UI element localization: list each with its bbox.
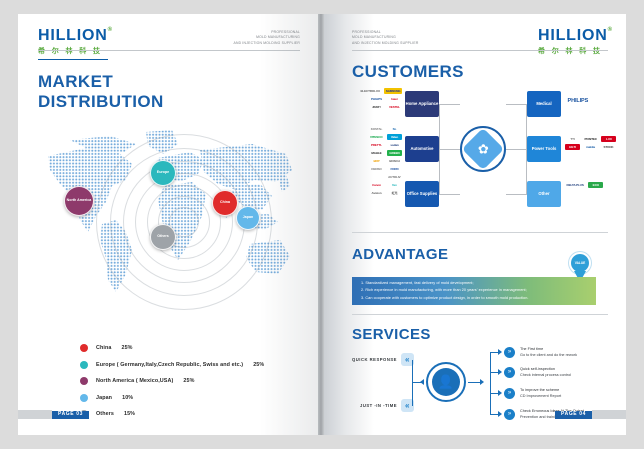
arrow-right-icon (498, 411, 502, 417)
client-logo: POSITEC (583, 136, 598, 142)
logo-wordmark: HILLION® (38, 28, 108, 44)
category-power-tools[interactable]: Power Tools (527, 136, 561, 162)
logo-left: HILLION® 希 尔 林 科 技 (38, 28, 108, 60)
chevron-right-double-icon: » (504, 367, 515, 378)
map-pin-others[interactable]: Others (150, 224, 176, 250)
header-divider-right (352, 50, 608, 51)
title-line-1: MARKET (38, 72, 164, 92)
category-label: Automotive (410, 146, 433, 151)
map-pin-china[interactable]: China (212, 190, 238, 216)
map-pin-label: China (220, 201, 230, 205)
client-logo: Valeo (387, 134, 402, 140)
connector-line (506, 149, 527, 150)
tagline-line-3: AND INJECTION MOLDING SUPPLIER (352, 41, 418, 46)
client-logo: HILTI (565, 144, 580, 150)
map-pin-label: Japan (243, 216, 253, 220)
client-logo: haier (387, 96, 402, 102)
side-label: QUICK RESPONSE (352, 357, 397, 362)
connector-line (439, 104, 440, 149)
category-other[interactable]: Other (527, 181, 561, 207)
advantage-point: 2. Rich experience in mold manufacturing… (361, 287, 587, 294)
logo-cluster-medical: PHILIPS (566, 98, 614, 104)
client-logo: PHILIPS (369, 96, 384, 102)
legend-color-swatch (80, 394, 88, 402)
arrow-right-icon (498, 349, 502, 355)
connector-line (490, 352, 491, 414)
service-line-2: CD Improvement Report (520, 393, 561, 399)
page-title-market-distribution: MARKET DISTRIBUTION (38, 72, 164, 112)
chevron-right-double-icon: » (504, 347, 515, 358)
customers-hub: ✿ (460, 126, 506, 172)
page-right: PROFESSIONAL MOLD MANUFACTURING AND INJE… (322, 14, 626, 435)
category-label: Other (538, 191, 549, 196)
service-line-2: Check internal process control (520, 372, 571, 378)
marker-text: VALUE (575, 261, 586, 265)
page-number-label: PAGE 03 (52, 411, 89, 419)
map-pin-north-america[interactable]: North America (64, 186, 94, 216)
legend-color-swatch (80, 377, 88, 385)
legend-item-north-america: North America ( Mexico,USA) 25% (80, 377, 264, 385)
category-label: Home Appliance (406, 101, 439, 106)
logo-cluster-automotive: KOSTAL SL VITESCO Valeo PRETTL sodan MAH… (352, 126, 402, 180)
service-line-2: Go to the client and do the rework (520, 352, 577, 358)
section-divider-services (352, 314, 608, 315)
client-logo: KOSTAL (369, 126, 384, 132)
legend-label: China (96, 345, 111, 351)
customer-service-agent-icon: 👤 (438, 374, 454, 390)
legend-item-china: China 25% (80, 344, 264, 352)
logo-right: HILLION® 希 尔 林 科 技 (538, 28, 608, 56)
logo-text: HILLION (38, 27, 108, 44)
legend-percent: 25% (121, 345, 132, 351)
connector-line (439, 149, 460, 150)
category-label: Office Supplies (407, 191, 437, 196)
connector-line (506, 194, 527, 195)
client-logo: BOSCH (387, 158, 402, 164)
logo-cluster-other: DELTA PLUS ECO (565, 182, 615, 188)
page-number-right: PAGE 04 (555, 410, 626, 419)
client-logo: BRP (369, 158, 384, 164)
client-logo: TTI (565, 136, 580, 142)
logo-cluster-office-supplies: Canon flex Avision 虹光 (360, 182, 402, 196)
section-title-services: SERVICES (352, 326, 431, 344)
legend-label: North America ( Mexico,USA) (96, 378, 173, 384)
arrow-left-icon (420, 379, 424, 385)
market-legend: China 25% Europe ( Germany,Italy,Czech R… (80, 344, 264, 427)
side-label: JUST -IN -TIME (360, 403, 397, 408)
connector-line (439, 104, 460, 105)
client-logo: VITESCO (369, 134, 384, 140)
customers-diagram: ✿ Home Appliance Automotive Office Suppl… (352, 82, 617, 214)
header-tagline-right: PROFESSIONAL MOLD MANUFACTURING AND INJE… (352, 30, 418, 46)
client-logo: flex (387, 182, 402, 188)
category-home-appliance[interactable]: Home Appliance (405, 91, 439, 117)
service-item-3: » To improve the scheme CD Improvement R… (504, 387, 561, 400)
lotus-emblem-icon: ✿ (478, 141, 489, 157)
logo-underline (38, 59, 108, 60)
connector-line (439, 149, 440, 194)
advantage-point: 1. Standardized management, fast deliver… (361, 280, 587, 287)
page-number-left: PAGE 03 (18, 410, 89, 419)
arrow-right-icon (498, 369, 502, 375)
client-logo: SL (387, 126, 402, 132)
service-side-quick-response: QUICK RESPONSE « (352, 353, 414, 366)
logo-cluster-power-tools: TTI POSITEC LUX HILTI makita STOCK (565, 136, 617, 150)
client-logo: DENSO (369, 166, 384, 172)
legend-percent: 25% (253, 362, 264, 368)
client-logo: GREEN (387, 150, 402, 156)
client-logo: sodan (387, 142, 402, 148)
logo-cluster-home-appliance: ELECTROLUX SAMSUNG PHILIPS haier JIMMY V… (354, 88, 402, 110)
logo-wordmark: HILLION® (538, 28, 608, 44)
map-pin-label: Europe (157, 171, 169, 175)
client-logo: ELECTROLUX (359, 88, 381, 94)
arrow-right-icon (498, 390, 502, 396)
category-automotive[interactable]: Automotive (405, 136, 439, 162)
client-logo: 虹光 (387, 190, 402, 196)
legend-item-others: Others 15% (80, 410, 264, 418)
client-logo: SAMSUNG (384, 88, 402, 94)
registered-mark-icon: ® (608, 27, 613, 33)
map-pin-label: North America (67, 199, 92, 203)
client-logo: PRETTL (369, 142, 384, 148)
client-logo: LUX (601, 136, 616, 142)
legend-percent: 10% (122, 395, 133, 401)
advantage-point: 3. Can cooperate with customers to optim… (361, 295, 587, 302)
legend-label: Japan (96, 395, 112, 401)
service-item-text: To improve the scheme CD Improvement Rep… (520, 387, 561, 400)
legend-percent: 25% (183, 378, 194, 384)
category-label: Medical (536, 101, 551, 106)
hub-circle: 👤 (432, 368, 460, 396)
service-item-text: The First time Go to the client and do t… (520, 346, 577, 359)
service-item-2: » Quick self-inspection Check internal p… (504, 366, 571, 379)
page-tag-bar (592, 410, 626, 419)
page-left: HILLION® 希 尔 林 科 技 PROFESSIONAL MOLD MAN… (18, 14, 318, 435)
section-title-advantage: ADVANTAGE (352, 246, 448, 264)
world-map: North America Europe China Japan Others (40, 124, 298, 324)
title-line-2: DISTRIBUTION (38, 92, 164, 112)
client-logo: FORD (387, 166, 402, 172)
chevron-right-double-icon: » (504, 409, 515, 420)
legend-item-japan: Japan 10% (80, 394, 264, 402)
legend-color-swatch (80, 361, 88, 369)
advantage-points-band: 1. Standardized management, fast deliver… (352, 277, 596, 305)
logo-chinese: 希 尔 林 科 技 (538, 46, 608, 56)
client-logo: MAHLE (369, 150, 384, 156)
client-logo: makita (583, 144, 598, 150)
legend-item-europe: Europe ( Germany,Italy,Czech Republic, S… (80, 361, 264, 369)
client-logo: DELTA PLUS (565, 182, 585, 188)
client-logo: Avision (369, 190, 384, 196)
map-pin-label: Others (157, 235, 169, 239)
client-logo: Canon (369, 182, 384, 188)
client-logo: ECO (588, 182, 603, 188)
brochure-spread: HILLION® 希 尔 林 科 技 PROFESSIONAL MOLD MAN… (0, 0, 644, 449)
client-logo: PHILIPS (566, 98, 590, 104)
service-side-just-in-time: JUST -IN -TIME « (360, 399, 414, 412)
hub-diamond: ✿ (462, 128, 504, 170)
book-spine (318, 14, 324, 435)
client-logo: STOCK (601, 144, 616, 150)
section-divider-advantage (352, 232, 608, 233)
header-tagline-left: PROFESSIONAL MOLD MANUFACTURING AND INJE… (234, 30, 300, 46)
category-medical[interactable]: Medical (527, 91, 561, 117)
service-item-1: » The First time Go to the client and do… (504, 346, 577, 359)
section-title-customers: CUSTOMERS (352, 62, 464, 82)
client-logo: JIMMY (369, 104, 384, 110)
legend-label: Others (96, 411, 114, 417)
tagline-line-3: AND INJECTION MOLDING SUPPLIER (234, 41, 300, 46)
client-logo: VESTEL (387, 104, 402, 110)
category-office-supplies[interactable]: Office Supplies (405, 181, 439, 207)
page-tag-bar (18, 410, 52, 419)
legend-label: Europe ( Germany,Italy,Czech Republic, S… (96, 362, 243, 368)
connector-line (506, 104, 527, 105)
logo-text: HILLION (538, 27, 608, 44)
category-label: Power Tools (532, 146, 557, 151)
legend-percent: 15% (124, 411, 135, 417)
map-pin-japan[interactable]: Japan (236, 206, 260, 230)
service-item-text: Quick self-inspection Check internal pro… (520, 366, 571, 379)
header-divider-left (38, 50, 300, 51)
chevron-right-double-icon: » (504, 388, 515, 399)
connector-line (412, 360, 413, 406)
connector-line (439, 194, 460, 195)
services-hub: 👤 (426, 362, 466, 402)
client-logo: AUTOLIV (387, 174, 402, 180)
legend-color-swatch (80, 344, 88, 352)
page-number-label: PAGE 04 (555, 411, 592, 419)
arrow-right-icon (480, 379, 484, 385)
logo-chinese: 希 尔 林 科 技 (38, 46, 108, 56)
registered-mark-icon: ® (108, 27, 113, 33)
map-pin-europe[interactable]: Europe (150, 160, 176, 186)
